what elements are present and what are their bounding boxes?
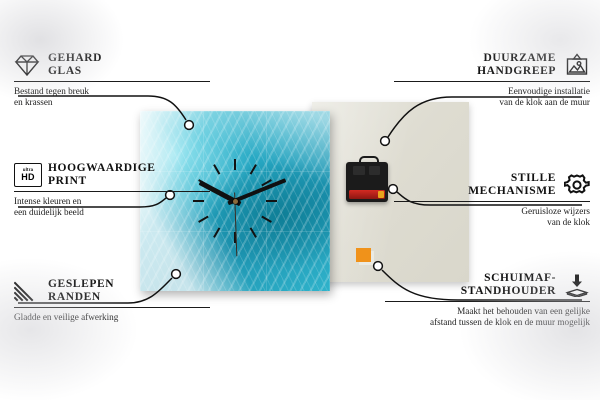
gear-icon [564, 173, 590, 197]
feature-desc-line1: Maakt het behouden van een gelijke [457, 306, 590, 316]
feature-desc-line2: van de klok aan de muur [499, 97, 590, 107]
feature-title-line1: GESLEPEN [48, 278, 114, 290]
feature-desc-line1: Bestand tegen breuk [14, 86, 89, 96]
feature-title-line2: HANDGREEP [477, 65, 556, 77]
feature-desc-line2: een duidelijk beeld [14, 207, 84, 217]
divider [14, 307, 210, 308]
feature-title-line1: SCHUIMAF- [484, 272, 556, 284]
infographic-canvas: GEHARD GLAS Bestand tegen breuk en krass… [0, 0, 600, 400]
feature-desc-line1: Eenvoudige installatie [508, 86, 590, 96]
feature-gehard-glas[interactable]: GEHARD GLAS Bestand tegen breuk en krass… [14, 52, 210, 108]
feature-title-line1: GEHARD [48, 52, 102, 64]
feature-hoogwaardige-print[interactable]: ultra HD HOOGWAARDIGE PRINT Intense kleu… [14, 162, 210, 218]
feature-title-line1: DUURZAME [483, 52, 556, 64]
feature-stille-mechanisme[interactable]: STILLE MECHANISME Geruisloze wijzers van… [394, 172, 590, 228]
framed-picture-icon [564, 53, 590, 77]
feature-title-line2: PRINT [48, 175, 87, 187]
divider [394, 201, 590, 202]
divider [385, 301, 590, 302]
divider [14, 81, 210, 82]
feature-title-line1: HOOGWAARDIGE [48, 162, 156, 174]
feature-desc-line2: en krassen [14, 97, 53, 107]
feature-desc-line1: Geruisloze wijzers [521, 206, 590, 216]
feature-desc-line1: Intense kleuren en [14, 196, 81, 206]
feature-title-line2: MECHANISME [468, 185, 556, 197]
feature-title-line2: GLAS [48, 65, 82, 77]
lead-dot-handgreep [381, 137, 390, 146]
feature-desc-line1: Gladde en veilige afwerking [14, 312, 118, 322]
beveled-edge-icon [14, 279, 40, 303]
divider [14, 191, 210, 192]
feature-duurzame-handgreep[interactable]: DUURZAME HANDGREEP Eenvoudige installati… [394, 52, 590, 108]
feature-title-line2: RANDEN [48, 291, 101, 303]
feature-title-line1: STILLE [511, 172, 556, 184]
lead-dot-gehard-glas [185, 121, 194, 130]
diamond-icon [14, 53, 40, 77]
hd-badge-main-text: HD [21, 173, 35, 182]
divider [394, 81, 590, 82]
feature-desc-line2: afstand tussen de klok en de muur mogeli… [430, 317, 590, 327]
press-down-pad-icon [564, 273, 590, 297]
feature-geslepen-randen[interactable]: GESLEPEN RANDEN Gladde en veilige afwerk… [14, 278, 210, 323]
feature-schuimafstandhouder[interactable]: SCHUIMAF- STANDHOUDER Maakt het behouden… [385, 272, 590, 328]
ultra-hd-badge-icon: ultra HD [14, 163, 40, 187]
lead-dot-standhouder [374, 262, 383, 271]
feature-title-line2: STANDHOUDER [461, 285, 556, 297]
feature-desc-line2: van de klok [547, 217, 590, 227]
